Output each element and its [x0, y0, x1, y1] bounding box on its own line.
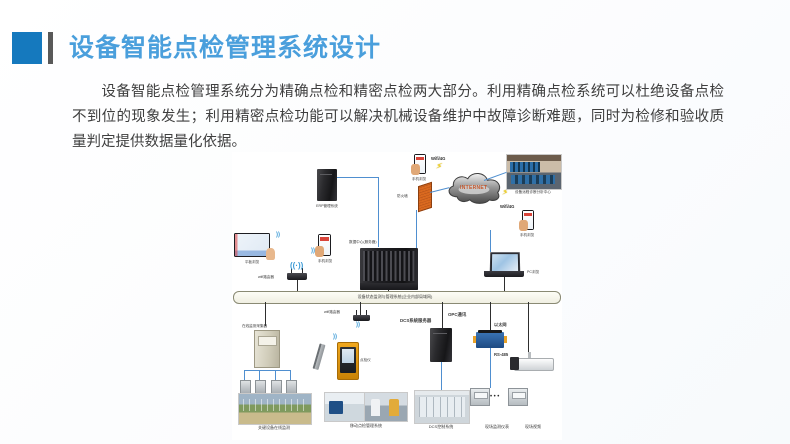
- slide-header: 设备智能点检管理系统设计: [12, 30, 381, 66]
- camera-body: [514, 358, 554, 371]
- phone-left-wifi-icon: )): [311, 248, 315, 254]
- collector-sensor-bus: [244, 370, 290, 371]
- architecture-diagram: )) 平板浏览 )) 手机浏览 ((·)) wifi路由器 ERP管理系统 数据…: [232, 152, 562, 440]
- header-accent-bar: [48, 32, 53, 64]
- erp-to-datacenter-link-h: [337, 177, 378, 178]
- key-equipment-photo: [238, 393, 312, 425]
- terminal-wifi-icon: )): [333, 334, 337, 340]
- gateway-top-rail: [478, 330, 503, 333]
- wifi-router-top: [287, 273, 307, 280]
- gateway-terminal-right: [504, 336, 507, 343]
- erp-to-datacenter-link-v: [378, 177, 379, 247]
- field-meter-2: [508, 388, 528, 406]
- bus-label: 设备状态监测与管理系统(企业内部局域网): [232, 294, 558, 300]
- worker-photo: [364, 392, 408, 422]
- bus-drop-camera: [528, 302, 529, 356]
- body-paragraph: 设备智能点检管理系统分为精确点检和精密点检两大部分。利用精确点检系统可以杜绝设备…: [72, 80, 724, 155]
- router-top-wifi-icon: ((·)): [290, 262, 303, 270]
- field-camera: [510, 356, 554, 376]
- vibration-sensor-1: [240, 380, 251, 394]
- motor-photo: [324, 392, 366, 422]
- bus-drop-gateway: [490, 302, 491, 332]
- wifi4g-top-label: Wifi/4G: [431, 156, 445, 161]
- firewall-device: [418, 182, 432, 213]
- collector-sensor-drop-3: [275, 370, 276, 380]
- inspection-terminal: [337, 342, 359, 380]
- phone-cloud-top-hand: [411, 164, 420, 175]
- header-accent-square: [12, 32, 42, 64]
- tablet-hand: [266, 248, 275, 260]
- phone-left-label: 手机浏览: [305, 259, 345, 264]
- wifi-router-mid: [353, 315, 370, 321]
- dcs-server-tower: [430, 328, 452, 362]
- router-bus-link: [297, 280, 298, 291]
- laptop-screen-content: [492, 254, 518, 271]
- dcs-server-label: DCS系统服务器: [400, 318, 431, 324]
- rack-blade-slots: [363, 251, 415, 280]
- ethernet-label: 以太网: [494, 322, 507, 328]
- datacenter-label: 数据中心(服务器): [349, 240, 377, 245]
- collector-sensor-drop-4: [290, 370, 291, 380]
- erp-server-tower: [317, 169, 337, 201]
- rack-base: [360, 283, 418, 290]
- bus-drop-collector: [265, 302, 266, 326]
- firewall-label: 防火墙: [397, 194, 408, 199]
- remote-center-label: 设备远程诊断分析中心: [504, 190, 562, 195]
- vibration-sensor-2: [255, 380, 266, 394]
- rs485-label: RS-485: [494, 352, 508, 357]
- tablet-dashboard-chart: [235, 234, 269, 256]
- datacenter-rack: [360, 248, 418, 290]
- page-title: 设备智能点检管理系统设计: [69, 36, 381, 61]
- field-meter-ellipsis: •••: [490, 394, 501, 400]
- phone-cloud-top-alert-bar: [416, 157, 424, 160]
- rs485-gateway: [476, 332, 504, 348]
- field-meter-1: [470, 388, 490, 406]
- phone-cloud-bottom-label: 手机浏览: [508, 233, 546, 238]
- router-mid-antenna-right-icon: [366, 310, 367, 315]
- gateway-terminal-left: [473, 336, 476, 343]
- dcs-control-photo: [414, 390, 470, 424]
- cloud-internet-label: INTERNET: [460, 185, 487, 191]
- paragraph-text: 设备智能点检管理系统分为精确点检和精密点检两大部分。利用精确点检系统可以杜绝设备…: [72, 84, 724, 150]
- phone-left-hand: [315, 246, 324, 257]
- dcs-server-to-cabinet-link: [441, 362, 442, 390]
- tablet-wifi-icon: )): [276, 232, 280, 238]
- erp-label: ERP管理系统: [305, 204, 349, 209]
- tablet-screen: [235, 234, 269, 256]
- wifi-router-top-label: wifi路由器: [258, 275, 274, 280]
- pc-label: PC浏览: [527, 270, 539, 275]
- phone-cloud-bottom-alert-bar: [524, 213, 532, 216]
- router-mid-wifi-icon: )): [356, 322, 360, 328]
- vibration-sensor-4: [286, 380, 297, 394]
- firewall-to-rack-link: [416, 210, 417, 248]
- wifi-router-mid-label: wifi路由器: [324, 310, 340, 315]
- key-equipment-caption: 关键设备在线监测: [237, 425, 311, 431]
- vibration-sensor-3: [271, 380, 282, 394]
- collector-sensor-drop-1: [244, 370, 245, 380]
- inspector-label: 点检仪: [360, 358, 371, 363]
- field-video-caption: 现场视频: [498, 424, 568, 430]
- wifi4g-bottom-label: Wifi/4G: [500, 204, 514, 209]
- tablet-device: [234, 233, 270, 257]
- opc-label: OPC通讯: [448, 312, 466, 318]
- pc-bus-link: [504, 277, 505, 291]
- cloud-to-pc-link: [490, 230, 491, 252]
- slide-root: 设备智能点检管理系统设计 设备智能点检管理系统分为精确点检和精密点检两大部分。利…: [0, 0, 790, 444]
- collector-label: 在线监测采集器: [242, 324, 267, 329]
- phone-cloud-top-label: 手机浏览: [400, 177, 438, 182]
- mobile-inspection-caption: 移动点检管理系统: [328, 423, 404, 429]
- terminal-screen: [342, 349, 354, 364]
- phone-left-alert-bar: [320, 237, 329, 240]
- camera-lens: [510, 357, 519, 370]
- tablet-label: 平板浏览: [232, 260, 272, 265]
- bus-drop-dcs: [442, 302, 443, 328]
- rs485-bus-line: [490, 348, 491, 388]
- collector-sensor-drop-2: [259, 370, 260, 380]
- terminal-body: [340, 347, 355, 373]
- phone-cloud-bottom-hand: [519, 220, 528, 231]
- collector-cabinet: [254, 330, 280, 368]
- remote-center-photo: [506, 154, 562, 190]
- router-mid-antenna-left-icon: [356, 310, 357, 315]
- bus-drop-router-mid: [360, 302, 361, 315]
- pc-laptop: [484, 252, 524, 280]
